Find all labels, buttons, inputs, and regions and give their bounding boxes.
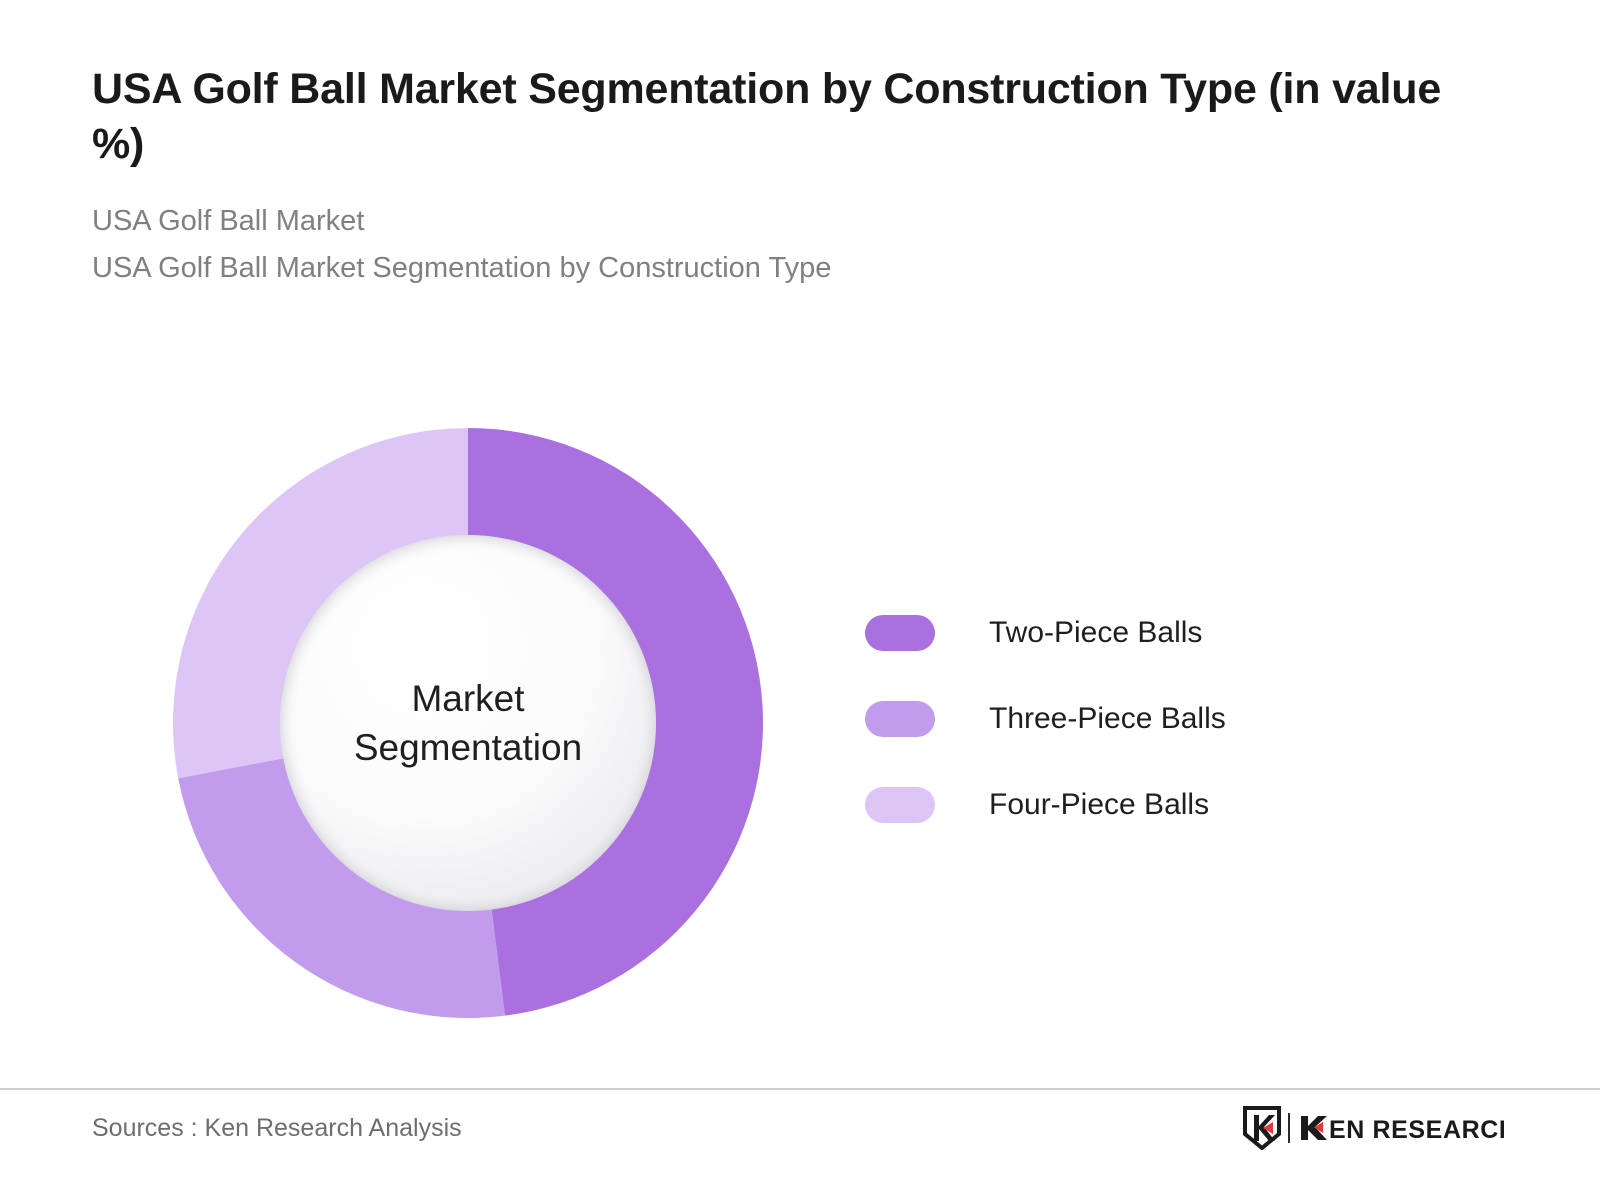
legend: Two-Piece Balls Three-Piece Balls Four-P… (865, 590, 1425, 848)
footer: Sources : Ken Research Analysis EN RESEA… (0, 1090, 1600, 1200)
page-title: USA Golf Ball Market Segmentation by Con… (92, 62, 1492, 172)
subtitle-line-market: USA Golf Ball Market (92, 198, 1522, 245)
donut-chart: Market Segmentation (173, 428, 763, 1018)
donut-hub-shadow (280, 535, 656, 911)
subtitle-block: USA Golf Ball Market USA Golf Ball Marke… (92, 198, 1522, 293)
legend-item-four-piece[interactable]: Four-Piece Balls (865, 762, 1425, 848)
legend-label: Three-Piece Balls (989, 702, 1226, 736)
legend-swatch-icon (865, 787, 935, 823)
legend-item-three-piece[interactable]: Three-Piece Balls (865, 676, 1425, 762)
slide-root: USA Golf Ball Market Segmentation by Con… (0, 0, 1600, 1200)
sources-text: Sources : Ken Research Analysis (92, 1114, 462, 1143)
legend-label: Two-Piece Balls (989, 616, 1202, 650)
logo-shield-icon (1243, 1106, 1281, 1150)
legend-label: Four-Piece Balls (989, 788, 1209, 822)
logo-wordmark: EN RESEARCH (1299, 1113, 1504, 1143)
header: USA Golf Ball Market Segmentation by Con… (92, 62, 1522, 293)
chart-area: Market Segmentation Two-Piece Balls Thre… (0, 390, 1600, 1050)
donut-svg (173, 428, 763, 1018)
legend-item-two-piece[interactable]: Two-Piece Balls (865, 590, 1425, 676)
logo-divider (1288, 1113, 1290, 1143)
svg-text:EN RESEARCH: EN RESEARCH (1329, 1116, 1504, 1143)
legend-swatch-icon (865, 701, 935, 737)
ken-research-logo: EN RESEARCH (1243, 1106, 1504, 1150)
subtitle-line-segmentation: USA Golf Ball Market Segmentation by Con… (92, 245, 1522, 292)
legend-swatch-icon (865, 615, 935, 651)
